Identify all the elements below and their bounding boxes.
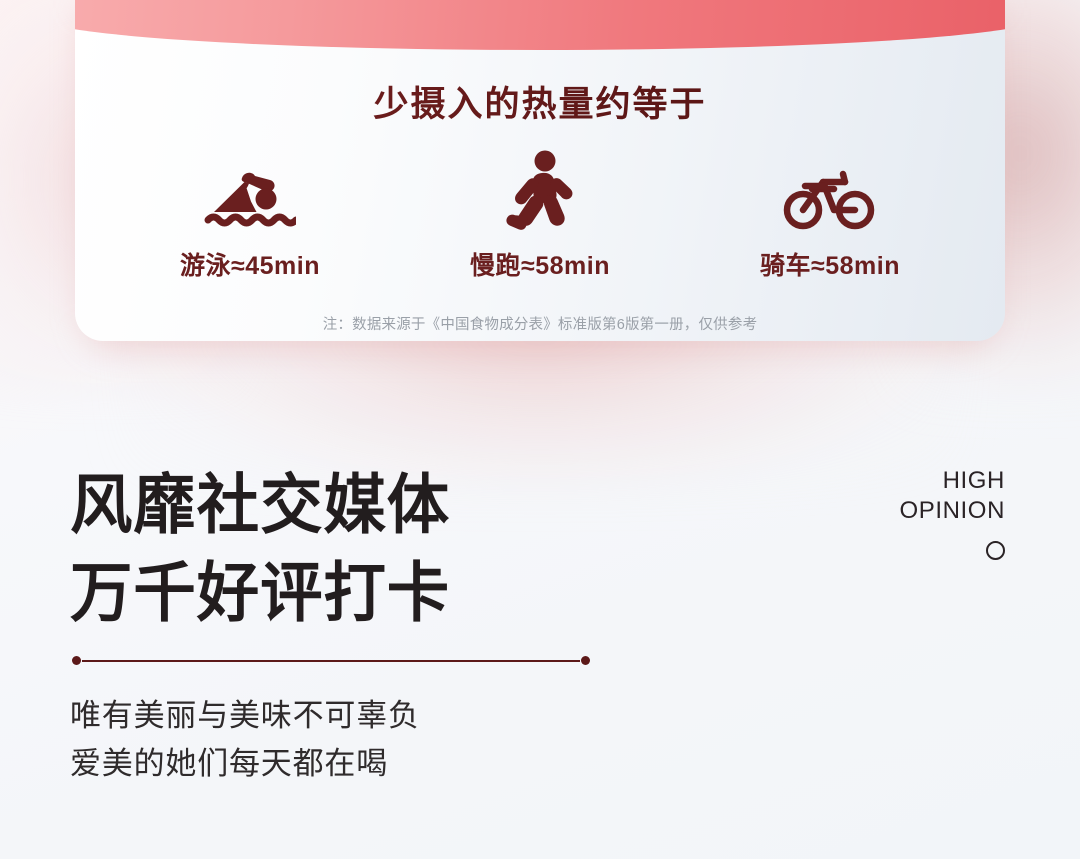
activity-label: 骑车≈58min — [760, 246, 900, 282]
cycling-icon — [782, 150, 878, 230]
headline-divider — [72, 654, 590, 668]
running-icon — [502, 150, 578, 230]
eyebrow-line-1: HIGH — [765, 466, 1005, 496]
card-footnote: 注：数据来源于《中国食物成分表》标准版第6版第一册，仅供参考 — [75, 313, 1005, 334]
divider-dot-left — [72, 656, 81, 665]
subtitle-line-2: 爱美的她们每天都在喝 — [70, 740, 690, 788]
headline-line-2: 万千好评打卡 — [70, 550, 665, 638]
divider-dot-right — [581, 656, 590, 665]
calorie-equivalent-card: 少摄入的热量约等于 游泳≈45min — [75, 0, 1005, 341]
page-headline: 风靡社交媒体 万千好评打卡 — [70, 462, 665, 638]
subtitle-line-1: 唯有美丽与美味不可辜负 — [70, 692, 690, 740]
headline-line-1: 风靡社交媒体 — [70, 462, 665, 550]
activity-label: 游泳≈45min — [180, 246, 320, 282]
page-subtitle: 唯有美丽与美味不可辜负 爱美的她们每天都在喝 — [70, 692, 690, 788]
eyebrow-text: HIGH OPINION — [765, 466, 1005, 526]
eyebrow-line-2: OPINION — [765, 496, 1005, 526]
divider-line — [82, 660, 580, 662]
activity-label: 慢跑≈58min — [470, 246, 610, 282]
circle-outline-icon — [986, 541, 1005, 560]
activity-item-cycling: 骑车≈58min — [730, 150, 930, 282]
activity-item-running: 慢跑≈58min — [440, 150, 640, 282]
activity-list: 游泳≈45min 慢跑≈58min — [105, 150, 975, 282]
swimming-icon — [204, 150, 296, 230]
card-top-band — [75, 0, 1005, 50]
card-title: 少摄入的热量约等于 — [75, 76, 1005, 127]
activity-item-swimming: 游泳≈45min — [150, 150, 350, 282]
